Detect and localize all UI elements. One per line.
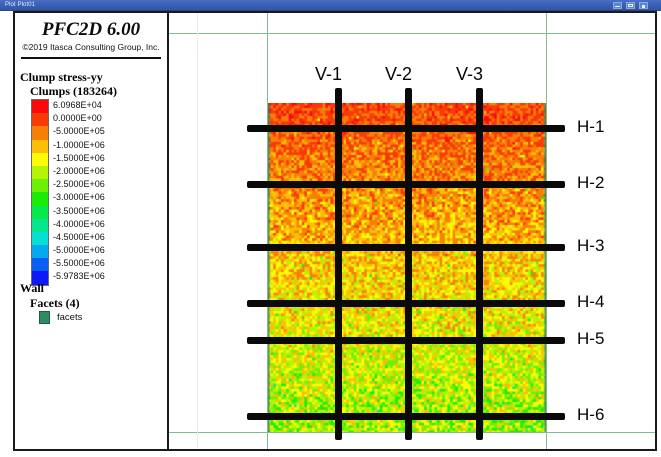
facets-color-swatch [39, 311, 50, 324]
color-scale-value-7: -3.0000E+06 [53, 191, 163, 204]
color-swatch-2 [32, 126, 48, 139]
label-h6: H-6 [577, 405, 604, 425]
brand-copyright: ©2019 Itasca Consulting Group, Inc. [15, 42, 167, 52]
color-swatch-1 [32, 113, 48, 126]
color-swatch-12 [32, 258, 48, 271]
horizontal-bar-h6 [247, 413, 565, 420]
horizontal-bar-h5 [247, 337, 565, 344]
color-swatch-7 [32, 192, 48, 205]
color-scale-bar [31, 99, 49, 286]
window-client-area: PFC2D 6.00 ©2019 Itasca Consulting Group… [0, 11, 661, 457]
color-scale-value-13: -5.9783E+06 [53, 270, 163, 283]
frame-border-bottom [13, 449, 657, 451]
label-h5: H-5 [577, 329, 604, 349]
color-scale-value-3: -1.0000E+06 [53, 139, 163, 152]
window-titlebar: Plot Plot01 [0, 0, 661, 11]
legend-subtitle: Clumps (183264) [30, 84, 117, 99]
frame-border-right [655, 11, 657, 451]
label-v3: V-3 [456, 64, 483, 85]
label-v2: V-2 [385, 64, 412, 85]
color-scale-value-8: -3.5000E+06 [53, 205, 163, 218]
horizontal-bar-h2 [247, 181, 565, 188]
pfc2d-plot-window: Plot Plot01 PFC2D 6.00 ©2019 Itasca Cons… [0, 0, 661, 457]
color-swatch-11 [32, 245, 48, 258]
guide-line-bottom [169, 432, 655, 433]
legend-title: Clump stress-yy [20, 70, 103, 85]
color-swatch-10 [32, 232, 48, 245]
color-scale-value-5: -2.0000E+06 [53, 165, 163, 178]
color-scale-value-4: -1.5000E+06 [53, 152, 163, 165]
color-swatch-9 [32, 219, 48, 232]
vertical-bar-v3 [476, 88, 483, 440]
guide-line-top [169, 33, 655, 34]
maximize-button[interactable] [626, 2, 635, 9]
color-scale-value-12: -5.5000E+06 [53, 257, 163, 270]
color-swatch-5 [32, 166, 48, 179]
window-title: Plot Plot01 [5, 0, 35, 11]
label-h3: H-3 [577, 236, 604, 256]
label-h2: H-2 [577, 173, 604, 193]
label-v1: V-1 [315, 64, 342, 85]
brand-divider [21, 57, 161, 59]
color-scale-value-0: 6.0968E+04 [53, 99, 163, 112]
legend-panel: PFC2D 6.00 ©2019 Itasca Consulting Group… [15, 13, 167, 449]
wall-heading: Wall [20, 281, 44, 296]
guide-line-right [546, 13, 547, 449]
guide-line-faint [197, 13, 198, 449]
facets-heading: Facets (4) [30, 296, 80, 311]
brand-title: PFC2D 6.00 [15, 19, 167, 41]
color-scale-value-11: -5.0000E+06 [53, 244, 163, 257]
vertical-bar-v1 [335, 88, 342, 440]
horizontal-bar-h4 [247, 300, 565, 307]
color-scale-value-9: -4.0000E+06 [53, 218, 163, 231]
color-scale-value-10: -4.5000E+06 [53, 231, 163, 244]
color-swatch-3 [32, 140, 48, 153]
color-swatch-6 [32, 179, 48, 192]
color-scale-value-1: 0.0000E+00 [53, 112, 163, 125]
label-h1: H-1 [577, 117, 604, 137]
minimize-button[interactable] [613, 2, 622, 9]
color-swatch-0 [32, 100, 48, 113]
color-swatch-8 [32, 206, 48, 219]
color-scale-value-6: -2.5000E+06 [53, 178, 163, 191]
vertical-bar-v2 [405, 88, 412, 440]
plot-canvas[interactable]: V-1 V-2 V-3 H-1 H-2 H-3 H-4 H-5 H-6 [169, 13, 655, 449]
color-scale-value-2: -5.0000E+05 [53, 125, 163, 138]
horizontal-bar-h3 [247, 244, 565, 251]
color-swatch-4 [32, 153, 48, 166]
close-button[interactable] [639, 2, 648, 9]
label-h4: H-4 [577, 292, 604, 312]
color-scale-labels: 6.0968E+040.0000E+00-5.0000E+05-1.0000E+… [53, 99, 163, 284]
facets-label: facets [57, 312, 82, 323]
horizontal-bar-h1 [247, 125, 565, 132]
